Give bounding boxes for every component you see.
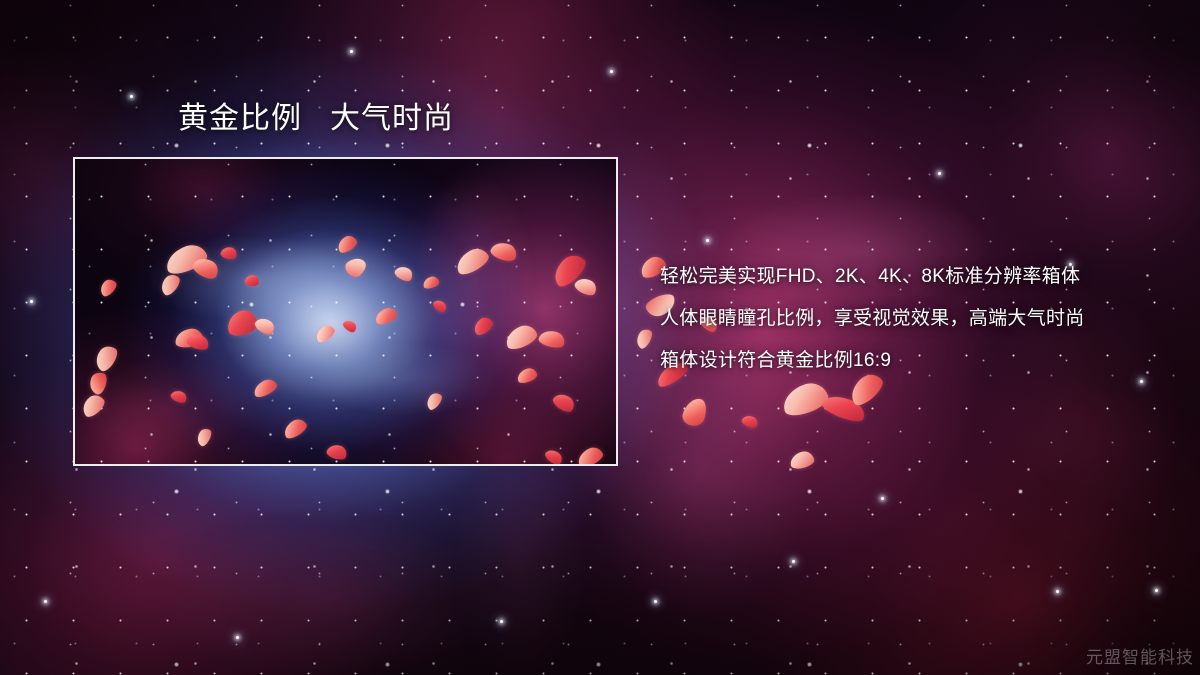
bright-star-icon bbox=[610, 70, 613, 73]
image-frame-content bbox=[75, 159, 616, 464]
body-copy-block: 轻松完美实现FHD、2K、4K、8K标准分辨率箱体 人体眼睛瞳孔比例，享受视觉效… bbox=[660, 256, 1180, 382]
presentation-slide: 黄金比例 大气时尚 轻松完美实现FHD、2K、4K、8K标准分辨率箱体 人体眼睛… bbox=[0, 0, 1200, 675]
page-title: 黄金比例 大气时尚 bbox=[178, 101, 454, 137]
bright-star-icon bbox=[792, 560, 795, 563]
bright-star-icon bbox=[500, 620, 503, 623]
bright-star-icon bbox=[1155, 589, 1158, 592]
bright-star-icon bbox=[30, 300, 33, 303]
body-copy-line-3: 箱体设计符合黄金比例16:9 bbox=[660, 340, 1180, 382]
petal-shape bbox=[633, 327, 654, 351]
bright-star-icon bbox=[350, 50, 353, 53]
watermark: 元盟智能科技 bbox=[1086, 643, 1194, 668]
petal-shape bbox=[789, 450, 816, 471]
bright-star-icon bbox=[44, 600, 47, 603]
bright-star-icon bbox=[881, 497, 884, 500]
bright-star-icon bbox=[130, 95, 133, 98]
bright-star-icon bbox=[938, 172, 941, 175]
petal-shape bbox=[779, 379, 831, 420]
image-frame[interactable] bbox=[73, 157, 618, 466]
bright-star-icon bbox=[1056, 590, 1059, 593]
petal-shape bbox=[820, 390, 868, 425]
bright-star-icon bbox=[706, 239, 709, 242]
petal-shape bbox=[740, 413, 759, 430]
bright-star-icon bbox=[236, 636, 239, 639]
body-copy-line-2: 人体眼睛瞳孔比例，享受视觉效果，高端大气时尚 bbox=[660, 298, 1180, 340]
framed-nebula-wisps bbox=[75, 159, 616, 464]
bright-star-icon bbox=[654, 600, 657, 603]
petal-shape bbox=[680, 395, 710, 428]
body-copy-line-1: 轻松完美实现FHD、2K、4K、8K标准分辨率箱体 bbox=[660, 256, 1180, 298]
